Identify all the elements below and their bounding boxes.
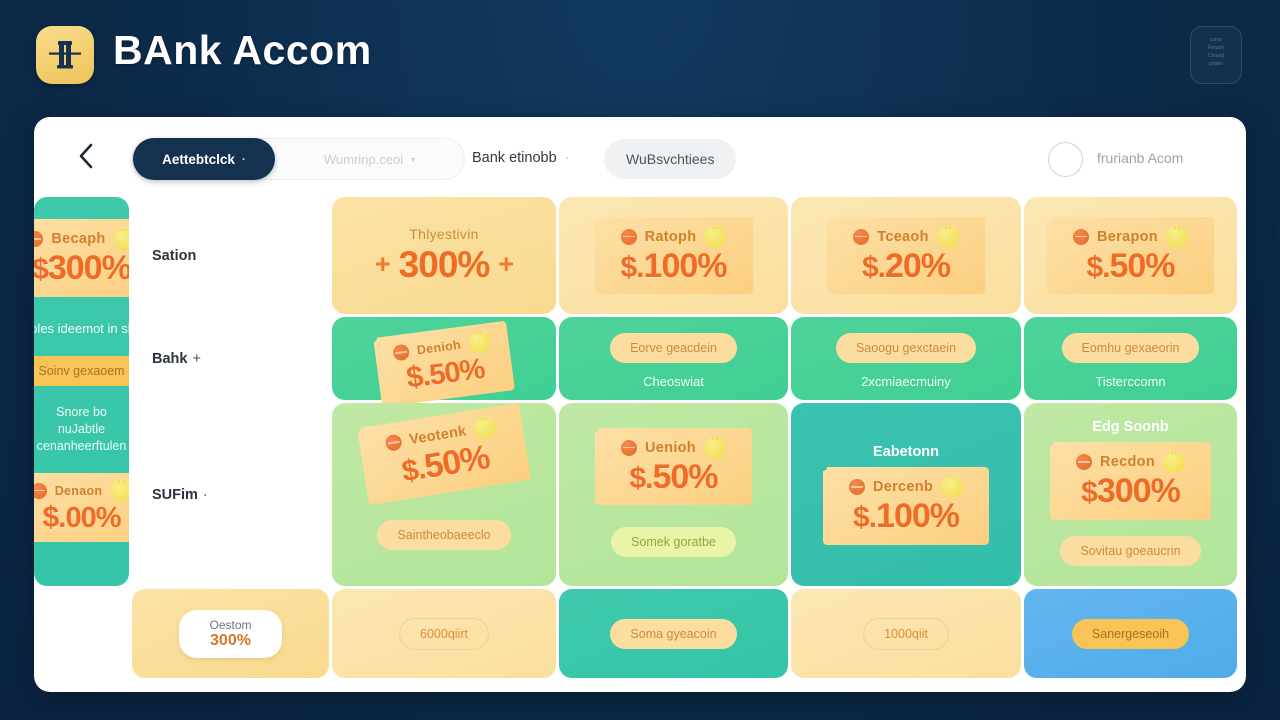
- cell-r2c4-pill[interactable]: Eomhu gexaeorin: [1062, 333, 1200, 363]
- coupon-ticket[interactable]: Dercenb $.100%: [823, 467, 989, 545]
- coupon-value: 300%: [1097, 472, 1180, 510]
- row-label-sufim: SUFim ·: [132, 403, 329, 586]
- coupon-value-row: $.100%: [849, 499, 963, 534]
- cell-r2c3-pill[interactable]: Saoogu gexctaein: [836, 333, 976, 363]
- custom-amount-pill[interactable]: Oestom 300%: [179, 610, 281, 658]
- row-label-footer: [34, 589, 129, 678]
- coupon-value-row: $.20%: [853, 249, 959, 284]
- toolbar: Aettebtclck · Wumririp.ceoi ▾ Bank etino…: [34, 117, 1246, 193]
- row-label-plus: +: [192, 351, 200, 367]
- coupon-currency: $: [34, 253, 48, 286]
- coupon-value-row: $300%: [1076, 474, 1185, 509]
- cell-r1c1[interactable]: Thlyestivin + 300% +: [332, 197, 556, 314]
- row-label-plus: ·: [203, 487, 208, 503]
- cell-r4c5-pill[interactable]: Sanergeseoih: [1072, 619, 1189, 649]
- coupon-ticket[interactable]: Tceaoh $.20%: [827, 217, 985, 295]
- coupon-value-row: $.50%: [1073, 249, 1188, 284]
- breadcrumb-separator: ·: [565, 150, 570, 166]
- badge-icon: [467, 330, 492, 355]
- cell-r2c3[interactable]: Saoogu gexctaein 2xcmiaecmuiny: [791, 317, 1021, 400]
- coupon-value: 100%: [644, 247, 727, 285]
- custom-amount-label: Oestom: [209, 618, 251, 632]
- coupon-ticket[interactable]: Becaph $300%: [34, 219, 129, 297]
- coin-icon: [1076, 454, 1092, 470]
- bank-glyph-icon: [49, 38, 81, 72]
- cell-r3c3[interactable]: Eabetonn Dercenb $.100%: [791, 403, 1021, 586]
- row-label-text: Sation: [152, 248, 196, 264]
- cell-r1c1-value-row: + 300% +: [375, 244, 513, 286]
- badge-icon: [110, 480, 129, 502]
- coupon-ticket[interactable]: Denaon $.00%: [34, 473, 129, 543]
- coupon-value: 50%: [1109, 247, 1174, 285]
- badge-icon: [704, 437, 726, 459]
- coupon-header: Recdon: [1076, 451, 1185, 473]
- right-panel-subtitle-2-line2: cenanheerftulen: [37, 438, 127, 455]
- cell-r4c5[interactable]: Sanergeseoih: [1024, 589, 1237, 678]
- badge-icon: [473, 415, 498, 440]
- coupon-currency: $.: [862, 251, 885, 284]
- offers-grid: Sation Thlyestivin + 300% + Ratoph $.100…: [34, 197, 1246, 692]
- coin-icon: [34, 483, 47, 499]
- coupon-name: Becaph: [51, 231, 105, 247]
- badge-icon: [1163, 451, 1185, 473]
- coin-icon: [385, 433, 403, 451]
- top-right-line-4: prtden: [1198, 60, 1234, 68]
- cell-r4c3-pill[interactable]: Soma gyeacoin: [610, 619, 736, 649]
- coupon-header: Ratoph: [621, 226, 727, 248]
- coin-icon: [621, 229, 637, 245]
- cell-r3c4-head: Edg Soonb: [1092, 419, 1169, 435]
- badge-icon: [114, 228, 129, 250]
- coupon-value-row: $300%: [34, 251, 129, 286]
- top-right-line-3: Chaadj: [1198, 52, 1234, 60]
- badge-icon: [941, 476, 963, 498]
- cell-r2c1[interactable]: Denioh $.50%: [332, 317, 556, 400]
- coupon-value: 00%: [66, 502, 121, 534]
- coupon-header: Denaon: [34, 480, 129, 502]
- bank-icon: [36, 26, 94, 84]
- row-label-text: Bahk: [152, 351, 187, 367]
- tab-pill[interactable]: WuBsvchtiees: [604, 139, 736, 179]
- badge-icon: [937, 226, 959, 248]
- coupon-currency: $.: [42, 501, 65, 534]
- coupon-ticket[interactable]: Berapon $.50%: [1047, 217, 1214, 295]
- breadcrumb-label: Bank etinobb: [472, 150, 557, 166]
- row-label-sation: Sation: [132, 197, 329, 314]
- segment-active[interactable]: Aettebtclck ·: [133, 138, 275, 180]
- coupon-value: 20%: [885, 247, 950, 285]
- coupon-name: Dercenb: [873, 479, 933, 495]
- segment-active-label: Aettebtclck: [162, 152, 235, 167]
- coupon-value-row: $.100%: [621, 249, 727, 284]
- cell-r1c1-value: 300%: [399, 244, 490, 286]
- app-header: BAnk Accom come Retuoh Chaadj prtden: [0, 0, 1280, 110]
- coupon-ticket[interactable]: Recdon $300%: [1050, 442, 1211, 520]
- coin-icon: [34, 231, 43, 247]
- coupon-ticket[interactable]: Ratoph $.100%: [595, 217, 753, 295]
- cell-r4c4-pill[interactable]: 1000qiit: [863, 618, 949, 650]
- coupon-value: 50%: [652, 458, 717, 496]
- cell-r1c2[interactable]: Ratoph $.100%: [559, 197, 788, 314]
- coin-icon: [621, 440, 637, 456]
- main-panel: Aettebtclck · Wumririp.ceoi ▾ Bank etino…: [34, 117, 1246, 692]
- coupon-currency: $.: [853, 501, 876, 534]
- segment-active-dot: ·: [242, 152, 246, 166]
- chevron-left-icon: [78, 143, 94, 169]
- cell-r2c2-pill[interactable]: Eorve geacdein: [610, 333, 737, 363]
- coupon-name: Uenioh: [645, 440, 696, 456]
- row-label-text: SUFim: [152, 487, 198, 503]
- cell-r4c4[interactable]: 1000qiit: [791, 589, 1021, 678]
- breadcrumb[interactable]: Bank etinobb ·: [472, 150, 570, 166]
- top-right-info-card[interactable]: come Retuoh Chaadj prtden: [1190, 26, 1242, 84]
- coupon-header: Tceaoh: [853, 226, 959, 248]
- cell-r2c3-subtitle: 2xcmiaecmuiny: [861, 374, 951, 389]
- cell-r4c3[interactable]: Soma gyeacoin: [559, 589, 788, 678]
- segment-inactive[interactable]: Wumririp.ceoi ▾: [275, 138, 464, 180]
- top-right-line-2: Retuoh: [1198, 44, 1234, 52]
- coin-icon: [853, 229, 869, 245]
- coupon-currency: $.: [1086, 251, 1109, 284]
- cell-right-panel[interactable]: Becaph $300% Scoles ideemot in slots Soi…: [34, 197, 129, 586]
- coupon-currency: $.: [629, 462, 652, 495]
- cell-r3c1-pill[interactable]: Saintheobaeeclo: [377, 520, 510, 550]
- cell-r3c4[interactable]: Edg Soonb Recdon $300% Sovitau goeaucrin: [1024, 403, 1237, 586]
- account-label: frurianb Acom: [1097, 150, 1183, 166]
- coupon-header: Uenioh: [621, 437, 726, 459]
- row-label-bank: Bahk +: [132, 317, 329, 400]
- coupon-value: 300%: [48, 249, 129, 287]
- cell-r4c2-pill[interactable]: 6000qiirt: [399, 618, 489, 650]
- coin-icon: [849, 479, 865, 495]
- cell-r3c4-pill[interactable]: Sovitau goeaucrin: [1060, 536, 1200, 566]
- coupon-ticket[interactable]: Denioh $.50%: [373, 321, 515, 408]
- chevron-down-icon: ▾: [411, 155, 415, 164]
- coupon-header: Becaph: [34, 228, 129, 250]
- cell-r1c3[interactable]: Tceaoh $.20%: [791, 197, 1021, 314]
- cell-r1c1-head: Thlyestivin: [409, 226, 478, 242]
- coupon-currency: $: [1081, 476, 1097, 509]
- coupon-ticket[interactable]: Uenioh $.50%: [595, 428, 752, 506]
- cell-r2c2-subtitle: Cheoswiat: [643, 374, 704, 389]
- cell-r4c2[interactable]: 6000qiirt: [332, 589, 556, 678]
- cell-r1c4[interactable]: Berapon $.50%: [1024, 197, 1237, 314]
- coin-icon: [1073, 229, 1089, 245]
- coupon-ticket[interactable]: Veotenk $.50%: [357, 403, 531, 505]
- cell-r3c2[interactable]: Uenioh $.50% Somek goratbe: [559, 403, 788, 586]
- badge-icon: [1166, 226, 1188, 248]
- coupon-name: Tceaoh: [877, 229, 929, 245]
- segmented-control: Aettebtclck · Wumririp.ceoi ▾: [132, 138, 465, 180]
- coupon-value: 100%: [876, 497, 959, 535]
- cell-r3c1[interactable]: Veotenk $.50% Saintheobaeeclo: [332, 403, 556, 586]
- right-panel-subtitle-1: Scoles ideemot in slots: [34, 321, 129, 336]
- coupon-name: Denaon: [55, 484, 103, 498]
- badge-icon: [704, 226, 726, 248]
- coupon-value-row: $.00%: [34, 503, 129, 534]
- coupon-header: Berapon: [1073, 226, 1188, 248]
- page-title: BAnk Accom: [113, 27, 372, 74]
- top-right-line-1: come: [1198, 36, 1234, 44]
- coupon-header: Dercenb: [849, 476, 963, 498]
- coupon-name: Denioh: [416, 338, 462, 358]
- cell-r2c4-subtitle: Tisterccomn: [1095, 374, 1165, 389]
- coupon-value-row: $.50%: [621, 460, 726, 495]
- cell-r3c2-pill[interactable]: Somek goratbe: [611, 527, 736, 557]
- cell-r2c4[interactable]: Eomhu gexaeorin Tisterccomn: [1024, 317, 1237, 400]
- coin-icon: [392, 344, 410, 362]
- coupon-name: Recdon: [1100, 454, 1155, 470]
- user-circle-icon[interactable]: [1048, 142, 1083, 177]
- cell-r4c1[interactable]: Oestom 300%: [132, 589, 329, 678]
- custom-amount-value: 300%: [209, 632, 251, 650]
- coupon-currency: $.: [621, 251, 644, 284]
- plus-right-icon: +: [498, 249, 513, 280]
- cell-r3c3-head: Eabetonn: [873, 444, 939, 460]
- back-button[interactable]: [72, 141, 100, 171]
- right-panel-subtitle-2-line1: Snore bo nuJabtle: [42, 404, 121, 438]
- right-panel-pill[interactable]: Soinv gexaoem: [34, 356, 129, 386]
- coupon-name: Ratoph: [645, 229, 697, 245]
- plus-left-icon: +: [375, 249, 390, 280]
- segment-inactive-label: Wumririp.ceoi: [324, 152, 403, 167]
- coupon-value: 50%: [427, 353, 486, 392]
- coupon-name: Berapon: [1097, 229, 1158, 245]
- cell-r2c2[interactable]: Eorve geacdein Cheoswiat: [559, 317, 788, 400]
